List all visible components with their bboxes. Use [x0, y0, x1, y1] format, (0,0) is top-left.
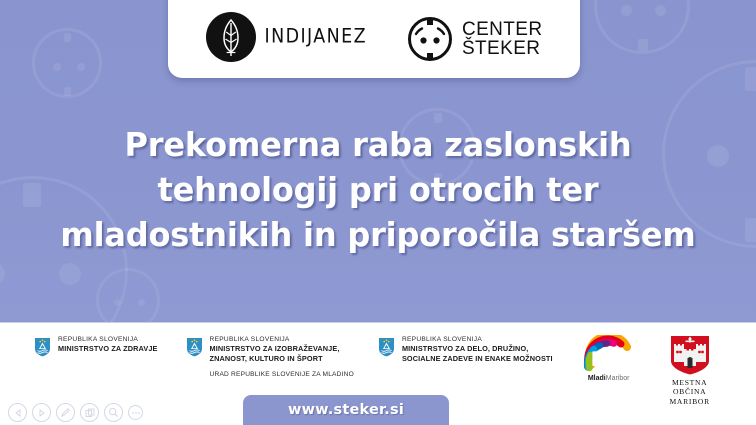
mladi-maribor-m-icon: [583, 335, 635, 373]
previous-slide-button[interactable]: [8, 403, 27, 422]
slovenia-coat-of-arms-icon: [378, 337, 395, 357]
center-steker-wordmark: CENTER ŠTEKER: [462, 20, 543, 59]
mladi-word-bold: Mladi: [588, 375, 606, 382]
socket-watermark: [32, 28, 102, 98]
sponsor-line-1: REPUBLIKA SLOVENIJA: [402, 335, 553, 344]
mladi-word-light: Maribor: [606, 375, 630, 382]
viewer-toolbar: [8, 403, 143, 422]
more-options-button[interactable]: [128, 405, 143, 420]
title-line-2: tehnologij pri otrocih ter: [11, 167, 744, 212]
sponsor-text: REPUBLIKA SLOVENIJA MINISTRSTVO ZA ZDRAV…: [58, 335, 158, 354]
triangle-right-icon: [38, 409, 46, 417]
title-line-1: Prekomerna raba zaslonskih: [11, 122, 744, 167]
mb-line-1: MESTNA: [669, 378, 709, 387]
power-socket-icon: [407, 16, 453, 62]
sponsor-line-2: MINISTRSTVO ZA ZDRAVJE: [58, 344, 158, 354]
sponsor-line-1: REPUBLIKA SLOVENIJA: [210, 335, 354, 344]
title-line-3: mladostnikih in priporočila staršem: [11, 212, 744, 257]
website-url-bar[interactable]: www.steker.si: [243, 395, 449, 425]
logo-card: INDIJANEZ CENTER ŠTEKER: [168, 0, 580, 78]
ellipsis-icon: [131, 411, 141, 415]
sponsor-line-1: REPUBLIKA SLOVENIJA: [58, 335, 158, 344]
magnifier-icon: [108, 407, 119, 418]
sponsor-line-2b: SOCIALNE ZADEVE IN ENAKE MOŽNOSTI: [402, 354, 553, 364]
mestna-obcina-maribor-wordmark: MESTNA OBČINA MARIBOR: [669, 378, 709, 406]
socket-watermark: [594, 0, 690, 54]
pen-tool-button[interactable]: [56, 403, 75, 422]
sponsor-text: REPUBLIKA SLOVENIJA MINISTRSTVO ZA IZOBR…: [210, 335, 354, 379]
sponsor-text: REPUBLIKA SLOVENIJA MINISTRSTVO ZA DELO,…: [402, 335, 553, 363]
sponsor-line-2: MINISTRSTVO ZA DELO, DRUŽINO,: [402, 344, 553, 354]
indijanez-logo: INDIJANEZ: [206, 12, 367, 62]
mladi-maribor-logo: MladiMaribor: [583, 335, 635, 382]
presentation-slide: INDIJANEZ CENTER ŠTEKER Prekomerna raba …: [0, 0, 756, 425]
mb-line-3: MARIBOR: [669, 397, 709, 406]
sponsor-line-2: MINISTRSTVO ZA IZOBRAŽEVANJE,: [210, 344, 354, 354]
sponsor-line-2b: ZNANOST, KULTURO IN ŠPORT: [210, 354, 354, 364]
feather-icon: [221, 19, 241, 57]
mladi-maribor-wordmark: MladiMaribor: [588, 375, 630, 382]
slovenia-coat-of-arms-icon: [186, 337, 203, 357]
sponsor-ministrstvo-za-delo: REPUBLIKA SLOVENIJA MINISTRSTVO ZA DELO,…: [378, 335, 553, 363]
zoom-button[interactable]: [104, 403, 123, 422]
next-slide-button[interactable]: [32, 403, 51, 422]
sponsor-ministrstvo-za-zdravje: REPUBLIKA SLOVENIJA MINISTRSTVO ZA ZDRAV…: [34, 335, 158, 357]
mb-line-2: OBČINA: [669, 387, 709, 396]
maribor-coat-of-arms-icon: [669, 335, 711, 375]
triangle-left-icon: [14, 409, 22, 417]
copy-icon: [85, 408, 95, 418]
center-steker-line1: CENTER: [462, 19, 543, 40]
sponsor-ministrstvo-za-izobrazevanje: REPUBLIKA SLOVENIJA MINISTRSTVO ZA IZOBR…: [186, 335, 354, 379]
center-steker-line2: ŠTEKER: [462, 39, 543, 59]
sponsor-line-3: URAD REPUBLIKE SLOVENIJE ZA MLADINO: [210, 370, 354, 379]
mestna-obcina-maribor-logo: MESTNA OBČINA MARIBOR: [669, 335, 711, 406]
pen-icon: [60, 407, 71, 418]
socket-watermark: [96, 268, 160, 322]
indijanez-wordmark: INDIJANEZ: [265, 26, 367, 48]
center-steker-logo: CENTER ŠTEKER: [407, 16, 543, 62]
slovenia-coat-of-arms-icon: [34, 337, 51, 357]
feather-in-circle-icon: [206, 12, 256, 62]
duplicate-button[interactable]: [80, 403, 99, 422]
page-title: Prekomerna raba zaslonskih tehnologij pr…: [11, 122, 744, 257]
